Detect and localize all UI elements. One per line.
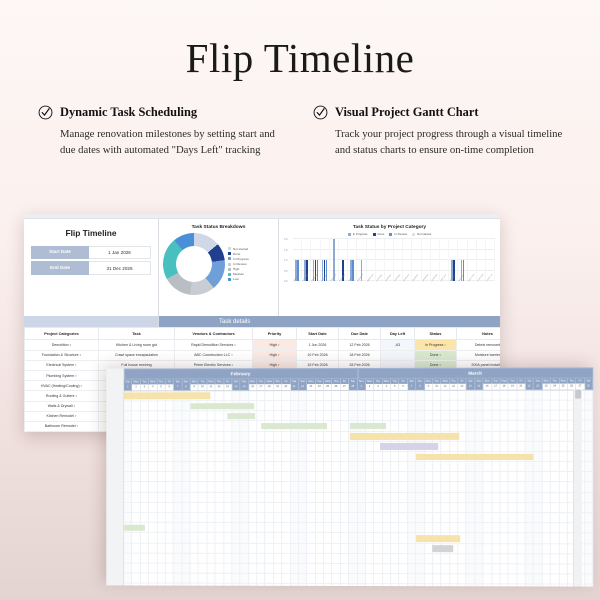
gantt-cell[interactable]	[224, 554, 232, 564]
gantt-cell[interactable]	[416, 411, 424, 421]
gantt-cell[interactable]	[458, 472, 466, 482]
gantt-cell[interactable]	[332, 544, 340, 554]
gantt-cell[interactable]	[341, 493, 349, 503]
gantt-cell[interactable]	[257, 411, 265, 421]
gantt-cell[interactable]	[316, 391, 324, 401]
gantt-cell[interactable]	[141, 442, 149, 452]
gantt-cell[interactable]	[216, 564, 224, 574]
gantt-cell[interactable]	[182, 523, 190, 533]
gantt-cell[interactable]	[366, 574, 374, 584]
gantt-cell[interactable]	[517, 462, 525, 472]
gantt-cell[interactable]	[332, 411, 340, 421]
gantt-cell[interactable]	[517, 523, 525, 533]
gantt-cell[interactable]	[132, 513, 140, 523]
gantt-cell[interactable]	[509, 462, 517, 472]
gantt-cell[interactable]	[224, 421, 232, 431]
gantt-cell[interactable]	[241, 533, 249, 543]
gantt-cell[interactable]	[282, 391, 290, 401]
gantt-cell[interactable]	[216, 513, 224, 523]
gantt-cell[interactable]	[157, 442, 165, 452]
gantt-cell[interactable]	[224, 472, 232, 482]
gantt-bar[interactable]	[416, 453, 534, 459]
gantt-cell[interactable]	[174, 533, 182, 543]
gantt-cell[interactable]	[500, 411, 508, 421]
gantt-cell[interactable]	[141, 493, 149, 503]
gantt-cell[interactable]	[467, 391, 475, 401]
gantt-cell[interactable]	[316, 411, 324, 421]
gantt-cell[interactable]	[166, 503, 174, 513]
gantt-cell[interactable]	[500, 401, 508, 411]
gantt-cell[interactable]	[543, 534, 551, 544]
gantt-cell[interactable]	[467, 442, 475, 452]
gantt-cell[interactable]	[249, 554, 257, 564]
gantt-cell[interactable]	[249, 503, 257, 513]
gantt-cell[interactable]	[526, 401, 534, 411]
gantt-cell[interactable]	[534, 544, 542, 554]
gantt-cell[interactable]	[282, 452, 290, 462]
gantt-cell[interactable]	[191, 452, 199, 462]
gantt-cell[interactable]	[257, 533, 265, 543]
gantt-cell[interactable]	[366, 533, 374, 543]
gantt-cell[interactable]	[366, 391, 374, 401]
gantt-cell[interactable]	[249, 421, 257, 431]
gantt-cell[interactable]	[366, 523, 374, 533]
gantt-cell[interactable]	[257, 543, 265, 553]
gantt-cell[interactable]	[358, 411, 366, 421]
gantt-cell[interactable]	[416, 544, 424, 554]
gantt-cell[interactable]	[450, 513, 458, 523]
gantt-cell[interactable]	[191, 564, 199, 574]
gantt-cell[interactable]	[349, 533, 357, 543]
gantt-cell[interactable]	[249, 442, 257, 452]
gantt-cell[interactable]	[174, 574, 182, 584]
gantt-cell[interactable]	[349, 462, 357, 472]
gantt-bar[interactable]	[350, 423, 386, 429]
gantt-cell[interactable]	[483, 544, 491, 554]
cell-category[interactable]: Kitchen Remodel ▾	[25, 411, 99, 421]
gantt-cell[interactable]	[526, 482, 534, 492]
gantt-cell[interactable]	[266, 472, 274, 482]
gantt-cell[interactable]	[166, 564, 174, 574]
gantt-cell[interactable]	[157, 432, 165, 442]
gantt-cell[interactable]	[174, 472, 182, 482]
gantt-cell[interactable]	[207, 574, 215, 584]
gantt-cell[interactable]	[399, 584, 407, 586]
gantt-cell[interactable]	[299, 533, 307, 543]
gantt-cell[interactable]	[182, 411, 190, 421]
gantt-cell[interactable]	[216, 432, 224, 442]
gantt-cell[interactable]	[232, 503, 240, 513]
gantt-cell[interactable]	[332, 391, 340, 401]
gantt-cell[interactable]	[441, 401, 449, 411]
gantt-cell[interactable]	[332, 574, 340, 584]
gantt-cell[interactable]	[467, 421, 475, 431]
gantt-cell[interactable]	[166, 442, 174, 452]
gantt-cell[interactable]	[224, 503, 232, 513]
gantt-cell[interactable]	[559, 401, 567, 411]
gantt-cell[interactable]	[174, 442, 182, 452]
gantt-cell[interactable]	[441, 513, 449, 523]
gantt-cell[interactable]	[191, 493, 199, 503]
gantt-cell[interactable]	[483, 503, 491, 513]
gantt-cell[interactable]	[534, 390, 542, 400]
gantt-cell[interactable]	[324, 472, 332, 482]
gantt-cell[interactable]	[124, 543, 132, 553]
gantt-cell[interactable]	[266, 564, 274, 574]
gantt-cell[interactable]	[526, 493, 534, 503]
gantt-cell[interactable]	[241, 554, 249, 564]
gantt-cell[interactable]	[282, 472, 290, 482]
gantt-cell[interactable]	[467, 493, 475, 503]
gantt-cell[interactable]	[374, 462, 382, 472]
gantt-cell[interactable]	[483, 431, 491, 441]
gantt-cell[interactable]	[141, 513, 149, 523]
gantt-cell[interactable]	[191, 442, 199, 452]
gantt-cell[interactable]	[433, 564, 441, 574]
gantt-cell[interactable]	[585, 452, 593, 462]
gantt-cell[interactable]	[551, 401, 559, 411]
gantt-cell[interactable]	[458, 503, 466, 513]
gantt-cell[interactable]	[526, 462, 534, 472]
gantt-cell[interactable]	[341, 513, 349, 523]
gantt-row[interactable]	[124, 513, 593, 524]
gantt-cell[interactable]	[585, 523, 593, 533]
dropdown-caret-icon[interactable]: ▾	[75, 363, 77, 367]
gantt-cell[interactable]	[316, 472, 324, 482]
gantt-cell[interactable]	[416, 503, 424, 513]
gantt-cell[interactable]	[157, 533, 165, 543]
gantt-cell[interactable]	[349, 401, 357, 411]
gantt-cell[interactable]	[467, 574, 475, 584]
gantt-cell[interactable]	[551, 442, 559, 452]
gantt-cell[interactable]	[483, 401, 491, 411]
gantt-cell[interactable]	[291, 432, 299, 442]
gantt-cell[interactable]	[132, 574, 140, 584]
gantt-cell[interactable]	[316, 442, 324, 452]
gantt-cell[interactable]	[316, 482, 324, 492]
gantt-bar[interactable]	[416, 535, 460, 541]
gantt-cell[interactable]	[149, 513, 157, 523]
gantt-cell[interactable]	[374, 533, 382, 543]
gantt-cell[interactable]	[266, 401, 274, 411]
gantt-cell[interactable]	[467, 534, 475, 544]
gantt-cell[interactable]	[324, 452, 332, 462]
gantt-cell[interactable]	[475, 574, 483, 584]
gantt-cell[interactable]	[216, 543, 224, 553]
gantt-cell[interactable]	[543, 472, 551, 482]
gantt-bar[interactable]	[227, 413, 255, 419]
gantt-cell[interactable]	[399, 513, 407, 523]
gantt-cell[interactable]	[249, 391, 257, 401]
gantt-cell[interactable]	[191, 472, 199, 482]
gantt-cell[interactable]	[483, 411, 491, 421]
gantt-cell[interactable]	[543, 503, 551, 513]
gantt-cell[interactable]	[274, 574, 282, 584]
gantt-cell[interactable]	[166, 462, 174, 472]
cell-day-left[interactable]: -63	[381, 340, 415, 350]
gantt-cell[interactable]	[543, 390, 551, 400]
gantt-cell[interactable]	[257, 564, 265, 574]
gantt-cell[interactable]	[416, 493, 424, 503]
gantt-cell[interactable]	[282, 584, 290, 586]
gantt-cell[interactable]	[551, 585, 559, 587]
gantt-cell[interactable]	[391, 554, 399, 564]
gantt-cell[interactable]	[199, 442, 207, 452]
gantt-cell[interactable]	[500, 431, 508, 441]
gantt-cell[interactable]	[191, 584, 199, 587]
gantt-cell[interactable]	[166, 543, 174, 553]
gantt-cell[interactable]	[517, 554, 525, 564]
gantt-cell[interactable]	[324, 482, 332, 492]
gantt-cell[interactable]	[341, 574, 349, 584]
gantt-row[interactable]	[124, 493, 593, 503]
gantt-cell[interactable]	[341, 442, 349, 452]
gantt-cell[interactable]	[425, 523, 433, 533]
gantt-cell[interactable]	[534, 462, 542, 472]
gantt-cell[interactable]	[450, 493, 458, 503]
gantt-cell[interactable]	[157, 503, 165, 513]
gantt-cell[interactable]	[534, 564, 542, 574]
gantt-cell[interactable]	[274, 493, 282, 503]
gantt-cell[interactable]	[425, 401, 433, 411]
gantt-cell[interactable]	[132, 452, 140, 462]
gantt-cell[interactable]	[141, 462, 149, 472]
gantt-cell[interactable]	[132, 411, 140, 421]
gantt-cell[interactable]	[408, 482, 416, 492]
gantt-cell[interactable]	[241, 574, 249, 584]
gantt-cell[interactable]	[526, 534, 534, 544]
gantt-cell[interactable]	[492, 482, 500, 492]
gantt-cell[interactable]	[585, 575, 593, 585]
gantt-cell[interactable]	[450, 442, 458, 452]
gantt-cell[interactable]	[559, 411, 567, 421]
cell-category[interactable]: Demolition ▾	[25, 340, 99, 350]
gantt-cell[interactable]	[408, 411, 416, 421]
cell-start-date[interactable]: 10 Feb 2026	[297, 350, 339, 360]
gantt-cell[interactable]	[492, 544, 500, 554]
gantt-cell[interactable]	[141, 472, 149, 482]
gantt-cell[interactable]	[492, 431, 500, 441]
gantt-cell[interactable]	[199, 574, 207, 584]
gantt-cell[interactable]	[349, 493, 357, 503]
gantt-cell[interactable]	[257, 401, 265, 411]
gantt-cell[interactable]	[207, 411, 215, 421]
gantt-cell[interactable]	[559, 482, 567, 492]
gantt-cell[interactable]	[408, 452, 416, 462]
gantt-cell[interactable]	[316, 513, 324, 523]
gantt-cell[interactable]	[291, 482, 299, 492]
gantt-cell[interactable]	[191, 574, 199, 584]
gantt-cell[interactable]	[232, 533, 240, 543]
gantt-cell[interactable]	[559, 544, 567, 554]
gantt-cell[interactable]	[543, 554, 551, 564]
cell-category[interactable]: Walls & Drywall ▾	[25, 401, 99, 411]
gantt-cell[interactable]	[559, 554, 567, 564]
gantt-cell[interactable]	[199, 584, 207, 587]
gantt-cell[interactable]	[475, 513, 483, 523]
gantt-cell[interactable]	[207, 422, 215, 432]
gantt-cell[interactable]	[551, 554, 559, 564]
gantt-cell[interactable]	[391, 391, 399, 401]
gantt-cell[interactable]	[450, 585, 458, 587]
gantt-cell[interactable]	[408, 401, 416, 411]
gantt-cell[interactable]	[543, 482, 551, 492]
gantt-cell[interactable]	[207, 513, 215, 523]
gantt-cell[interactable]	[216, 411, 224, 421]
gantt-cell[interactable]	[307, 452, 315, 462]
gantt-cell[interactable]	[500, 523, 508, 533]
gantt-cell[interactable]	[307, 544, 315, 554]
gantt-cell[interactable]	[458, 574, 466, 584]
gantt-cell[interactable]	[416, 564, 424, 574]
gantt-cell[interactable]	[559, 442, 567, 452]
gantt-cell[interactable]	[559, 452, 567, 462]
gantt-cell[interactable]	[299, 482, 307, 492]
gantt-cell[interactable]	[492, 442, 500, 452]
gantt-cell[interactable]	[349, 544, 357, 554]
gantt-cell[interactable]	[391, 513, 399, 523]
gantt-row[interactable]	[124, 442, 593, 452]
gantt-cell[interactable]	[534, 452, 542, 462]
gantt-cell[interactable]	[391, 564, 399, 574]
gantt-cell[interactable]	[509, 421, 517, 431]
gantt-cell[interactable]	[585, 442, 593, 452]
gantt-cell[interactable]	[232, 391, 240, 401]
gantt-cell[interactable]	[483, 534, 491, 544]
gantt-cell[interactable]	[241, 472, 249, 482]
gantt-cell[interactable]	[182, 422, 190, 432]
gantt-cell[interactable]	[166, 472, 174, 482]
gantt-cell[interactable]	[374, 574, 382, 584]
gantt-cell[interactable]	[509, 564, 517, 574]
gantt-cell[interactable]	[257, 493, 265, 503]
gantt-cell[interactable]	[199, 503, 207, 513]
dropdown-caret-icon[interactable]: ▾	[234, 343, 236, 347]
gantt-cell[interactable]	[425, 421, 433, 431]
gantt-cell[interactable]	[216, 421, 224, 431]
gantt-cell[interactable]	[500, 442, 508, 452]
gantt-cell[interactable]	[124, 574, 132, 584]
gantt-cell[interactable]	[399, 544, 407, 554]
gantt-cell[interactable]	[433, 482, 441, 492]
gantt-cell[interactable]	[207, 442, 215, 452]
gantt-cell[interactable]	[141, 452, 149, 462]
gantt-cell[interactable]	[509, 401, 517, 411]
gantt-cell[interactable]	[349, 442, 357, 452]
gantt-cell[interactable]	[199, 493, 207, 503]
gantt-cell[interactable]	[374, 401, 382, 411]
gantt-cell[interactable]	[224, 533, 232, 543]
gantt-cell[interactable]	[174, 462, 182, 472]
gantt-cell[interactable]	[509, 513, 517, 523]
gantt-cell[interactable]	[157, 422, 165, 432]
gantt-cell[interactable]	[441, 421, 449, 431]
gantt-cell[interactable]	[517, 472, 525, 482]
gantt-cell[interactable]	[458, 513, 466, 523]
gantt-cell[interactable]	[500, 421, 508, 431]
gantt-cell[interactable]	[149, 543, 157, 553]
cell-category[interactable]: Electrical System ▾	[25, 360, 99, 370]
gantt-cell[interactable]	[458, 401, 466, 411]
gantt-cell[interactable]	[191, 513, 199, 523]
gantt-cell[interactable]	[307, 472, 315, 482]
gantt-cell[interactable]	[366, 564, 374, 574]
gantt-cell[interactable]	[408, 564, 416, 574]
gantt-cell[interactable]	[391, 401, 399, 411]
gantt-cell[interactable]	[341, 523, 349, 533]
gantt-cell[interactable]	[383, 472, 391, 482]
gantt-cell[interactable]	[241, 452, 249, 462]
gantt-cell[interactable]	[534, 411, 542, 421]
gantt-cell[interactable]	[124, 584, 132, 587]
gantt-cell[interactable]	[509, 442, 517, 452]
gantt-cell[interactable]	[141, 574, 149, 584]
gantt-cell[interactable]	[408, 472, 416, 482]
gantt-cell[interactable]	[266, 411, 274, 421]
gantt-cell[interactable]	[492, 462, 500, 472]
gantt-cell[interactable]	[216, 391, 224, 401]
gantt-cell[interactable]	[433, 513, 441, 523]
gantt-cell[interactable]	[383, 584, 391, 586]
gantt-cell[interactable]	[182, 493, 190, 503]
gantt-cell[interactable]	[341, 391, 349, 401]
gantt-cell[interactable]	[408, 391, 416, 401]
gantt-cell[interactable]	[224, 523, 232, 533]
gantt-cell[interactable]	[543, 401, 551, 411]
gantt-cell[interactable]	[366, 452, 374, 462]
gantt-cell[interactable]	[509, 534, 517, 544]
gantt-cell[interactable]	[467, 513, 475, 523]
gantt-cell[interactable]	[291, 401, 299, 411]
gantt-cell[interactable]	[124, 401, 132, 411]
gantt-cell[interactable]	[282, 513, 290, 523]
gantt-cell[interactable]	[216, 584, 224, 587]
gantt-cell[interactable]	[182, 482, 190, 492]
gantt-cell[interactable]	[291, 493, 299, 503]
gantt-cell[interactable]	[467, 431, 475, 441]
gantt-cell[interactable]	[266, 442, 274, 452]
gantt-cell[interactable]	[324, 574, 332, 584]
gantt-cell[interactable]	[349, 564, 357, 574]
gantt-row[interactable]	[124, 533, 593, 544]
gantt-cell[interactable]	[358, 472, 366, 482]
gantt-bar[interactable]	[124, 393, 210, 400]
dropdown-caret-icon[interactable]: ▾	[75, 394, 77, 398]
gantt-cell[interactable]	[257, 452, 265, 462]
gantt-cell[interactable]	[299, 442, 307, 452]
gantt-cell[interactable]	[517, 442, 525, 452]
gantt-cell[interactable]	[241, 442, 249, 452]
cell-vendor[interactable]: Rapid Demolition Services ▾	[175, 340, 253, 350]
gantt-cell[interactable]	[399, 411, 407, 421]
gantt-cell[interactable]	[232, 472, 240, 482]
gantt-cell[interactable]	[199, 564, 207, 574]
gantt-cell[interactable]	[316, 584, 324, 586]
gantt-cell[interactable]	[408, 503, 416, 513]
gantt-cell[interactable]	[149, 564, 157, 574]
cell-category[interactable]: Roofing & Gutters ▾	[25, 391, 99, 401]
gantt-cell[interactable]	[141, 432, 149, 442]
gantt-cell[interactable]	[425, 513, 433, 523]
gantt-cell[interactable]	[174, 523, 182, 533]
gantt-cell[interactable]	[307, 503, 315, 513]
cell-task[interactable]: Kitchen & Living room gut	[99, 340, 175, 350]
gantt-cell[interactable]	[383, 391, 391, 401]
gantt-cell[interactable]	[274, 411, 282, 421]
gantt-cell[interactable]	[441, 462, 449, 472]
gantt-cell[interactable]	[141, 401, 149, 411]
gantt-cell[interactable]	[526, 431, 534, 441]
